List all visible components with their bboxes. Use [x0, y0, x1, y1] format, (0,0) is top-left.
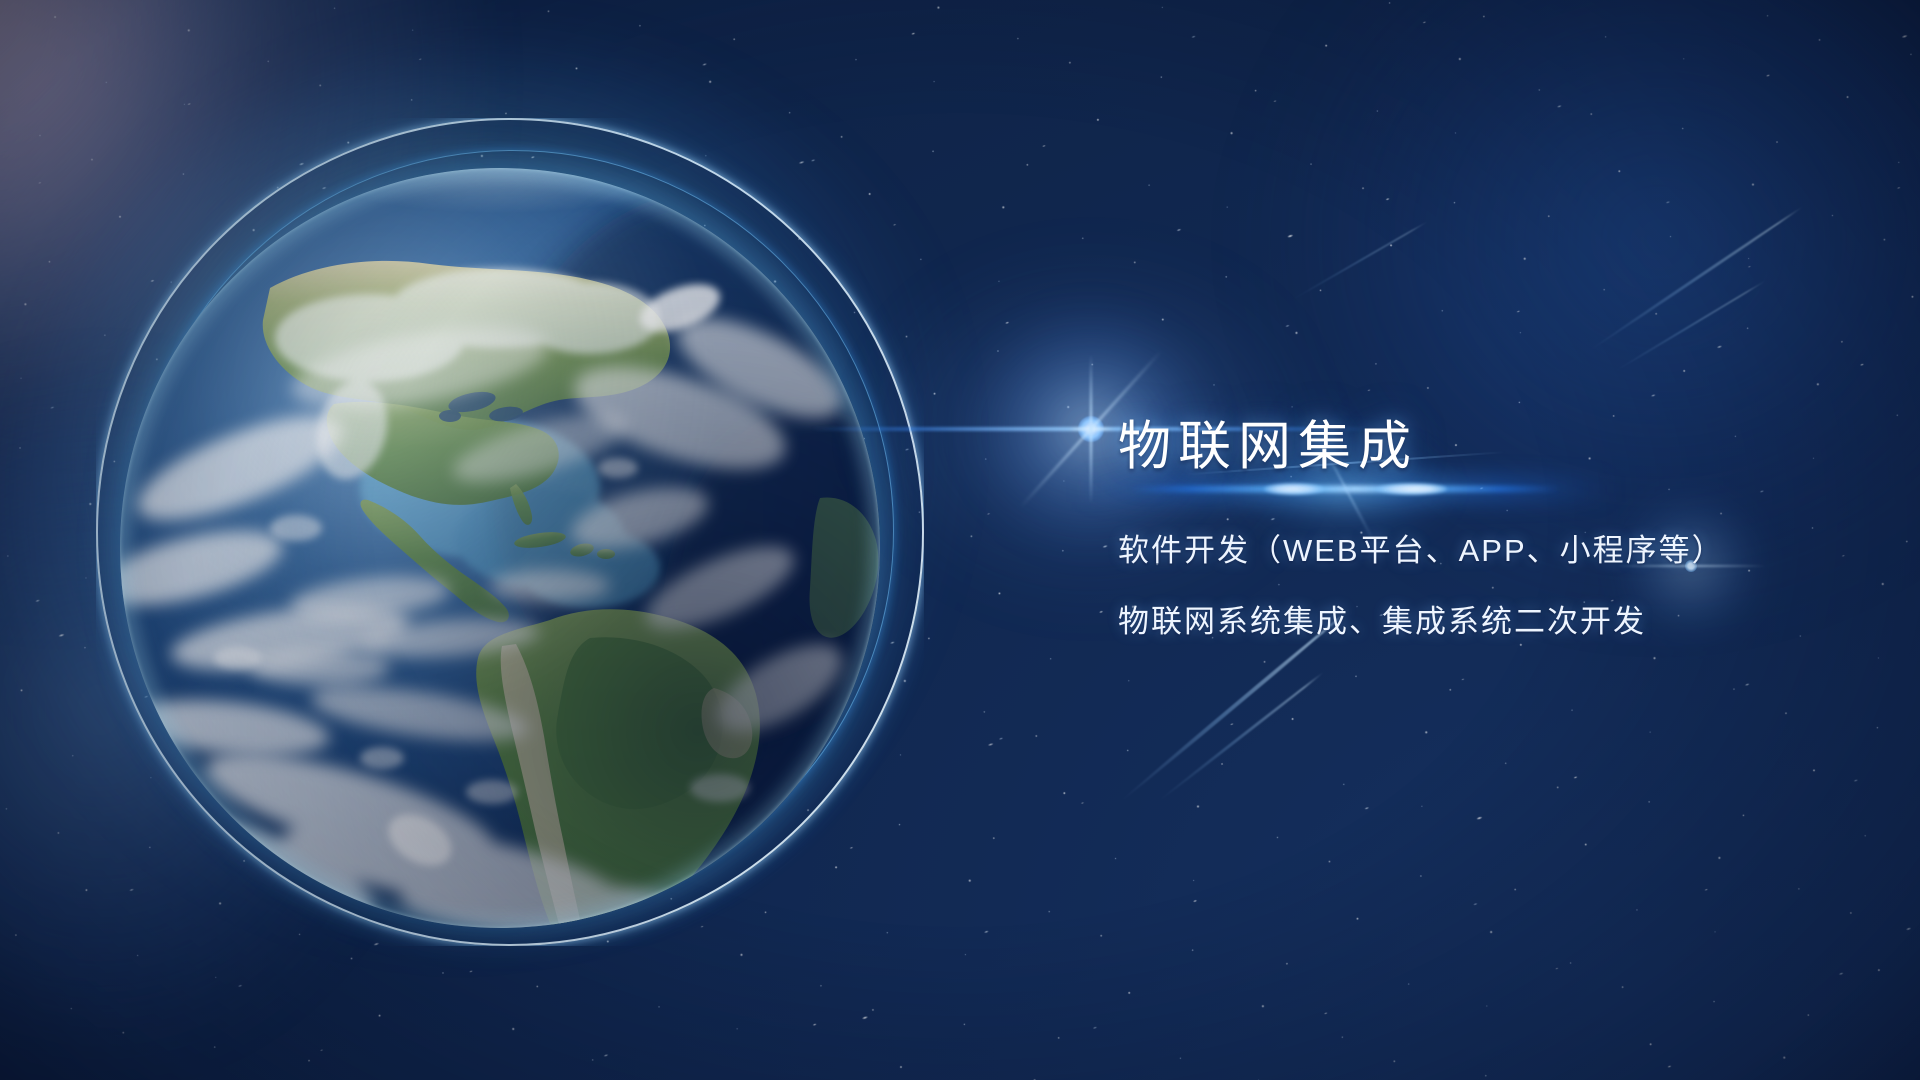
hero-copy: 物联网集成 软件开发（WEB平台、APP、小程序等） 物联网系统集成、集成系统二…: [1118, 420, 1878, 641]
page-title: 物联网集成: [1118, 420, 1878, 473]
hero-banner: 物联网集成 软件开发（WEB平台、APP、小程序等） 物联网系统集成、集成系统二…: [0, 0, 1920, 1080]
subtitle-line-2: 物联网系统集成、集成系统二次开发: [1118, 596, 1878, 641]
subtitle-line-1: 软件开发（WEB平台、APP、小程序等）: [1118, 525, 1878, 570]
